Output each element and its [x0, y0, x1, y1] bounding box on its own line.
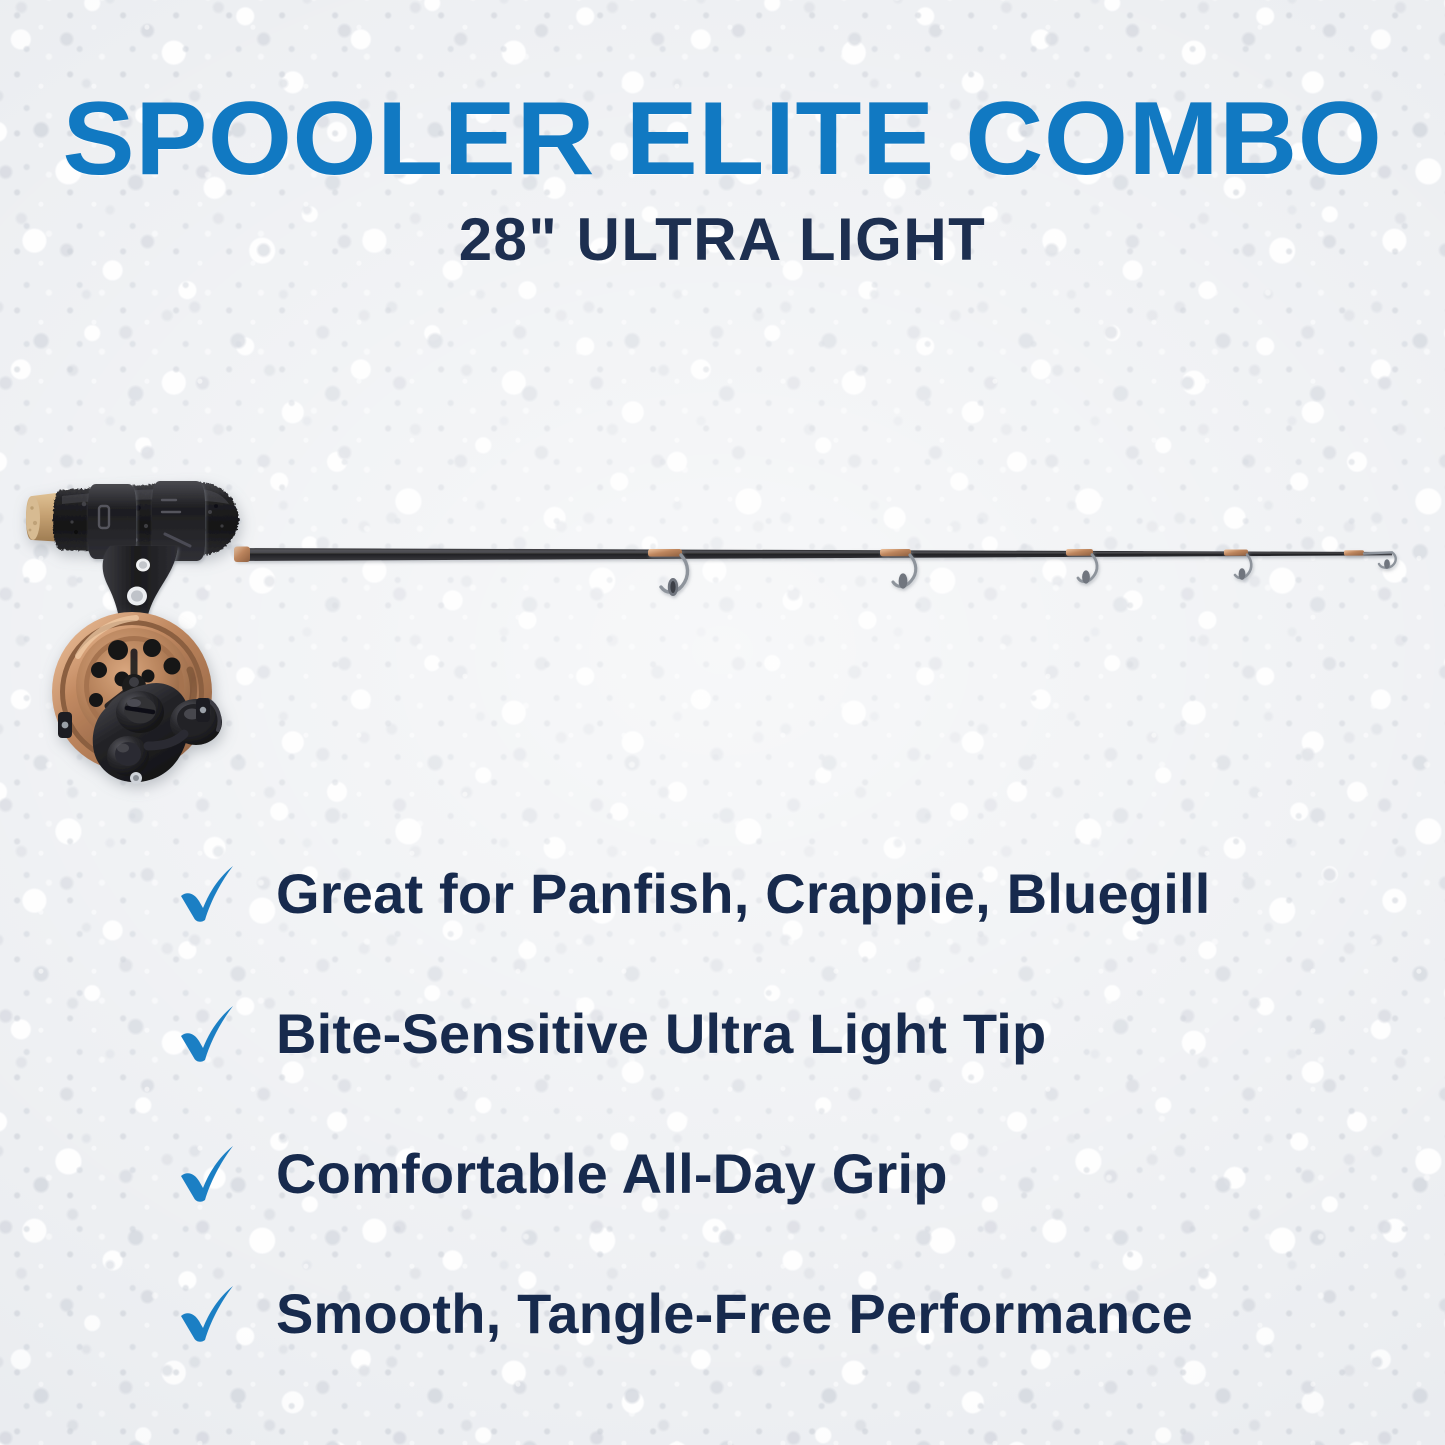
product-image [0, 460, 1445, 820]
feature-label: Comfortable All-Day Grip [276, 1145, 948, 1202]
heading-block: SPOOLER ELITE COMBO 28" ULTRA LIGHT [0, 92, 1445, 270]
rod-blank [236, 548, 1392, 561]
page-title: SPOOLER ELITE COMBO [0, 92, 1445, 188]
blank-ferrule [234, 547, 250, 563]
feature-label: Bite-Sensitive Ultra Light Tip [276, 1005, 1046, 1062]
list-item: Smooth, Tangle-Free Performance [176, 1266, 1276, 1362]
list-item: Great for Panfish, Crappie, Bluegill [176, 846, 1276, 942]
list-item: Bite-Sensitive Ultra Light Tip [176, 986, 1276, 1082]
rod-guide [1224, 550, 1251, 580]
product-poster: SPOOLER ELITE COMBO 28" ULTRA LIGHT [0, 0, 1445, 1445]
check-icon [176, 1003, 240, 1065]
page-subtitle: 28" ULTRA LIGHT [0, 210, 1445, 270]
check-icon [176, 1143, 240, 1205]
rod-guide [1066, 549, 1097, 584]
feature-label: Great for Panfish, Crappie, Bluegill [276, 865, 1210, 922]
reel-stem [103, 546, 178, 624]
rod-guide [880, 549, 916, 589]
fishing-reel [52, 612, 222, 784]
rod-tip-guide [1344, 550, 1396, 569]
rod-guide [648, 549, 688, 596]
feature-label: Smooth, Tangle-Free Performance [276, 1285, 1193, 1342]
check-icon [176, 863, 240, 925]
feature-list: Great for Panfish, Crappie, Bluegill Bit… [176, 846, 1276, 1362]
list-item: Comfortable All-Day Grip [176, 1126, 1276, 1222]
check-icon [176, 1283, 240, 1345]
